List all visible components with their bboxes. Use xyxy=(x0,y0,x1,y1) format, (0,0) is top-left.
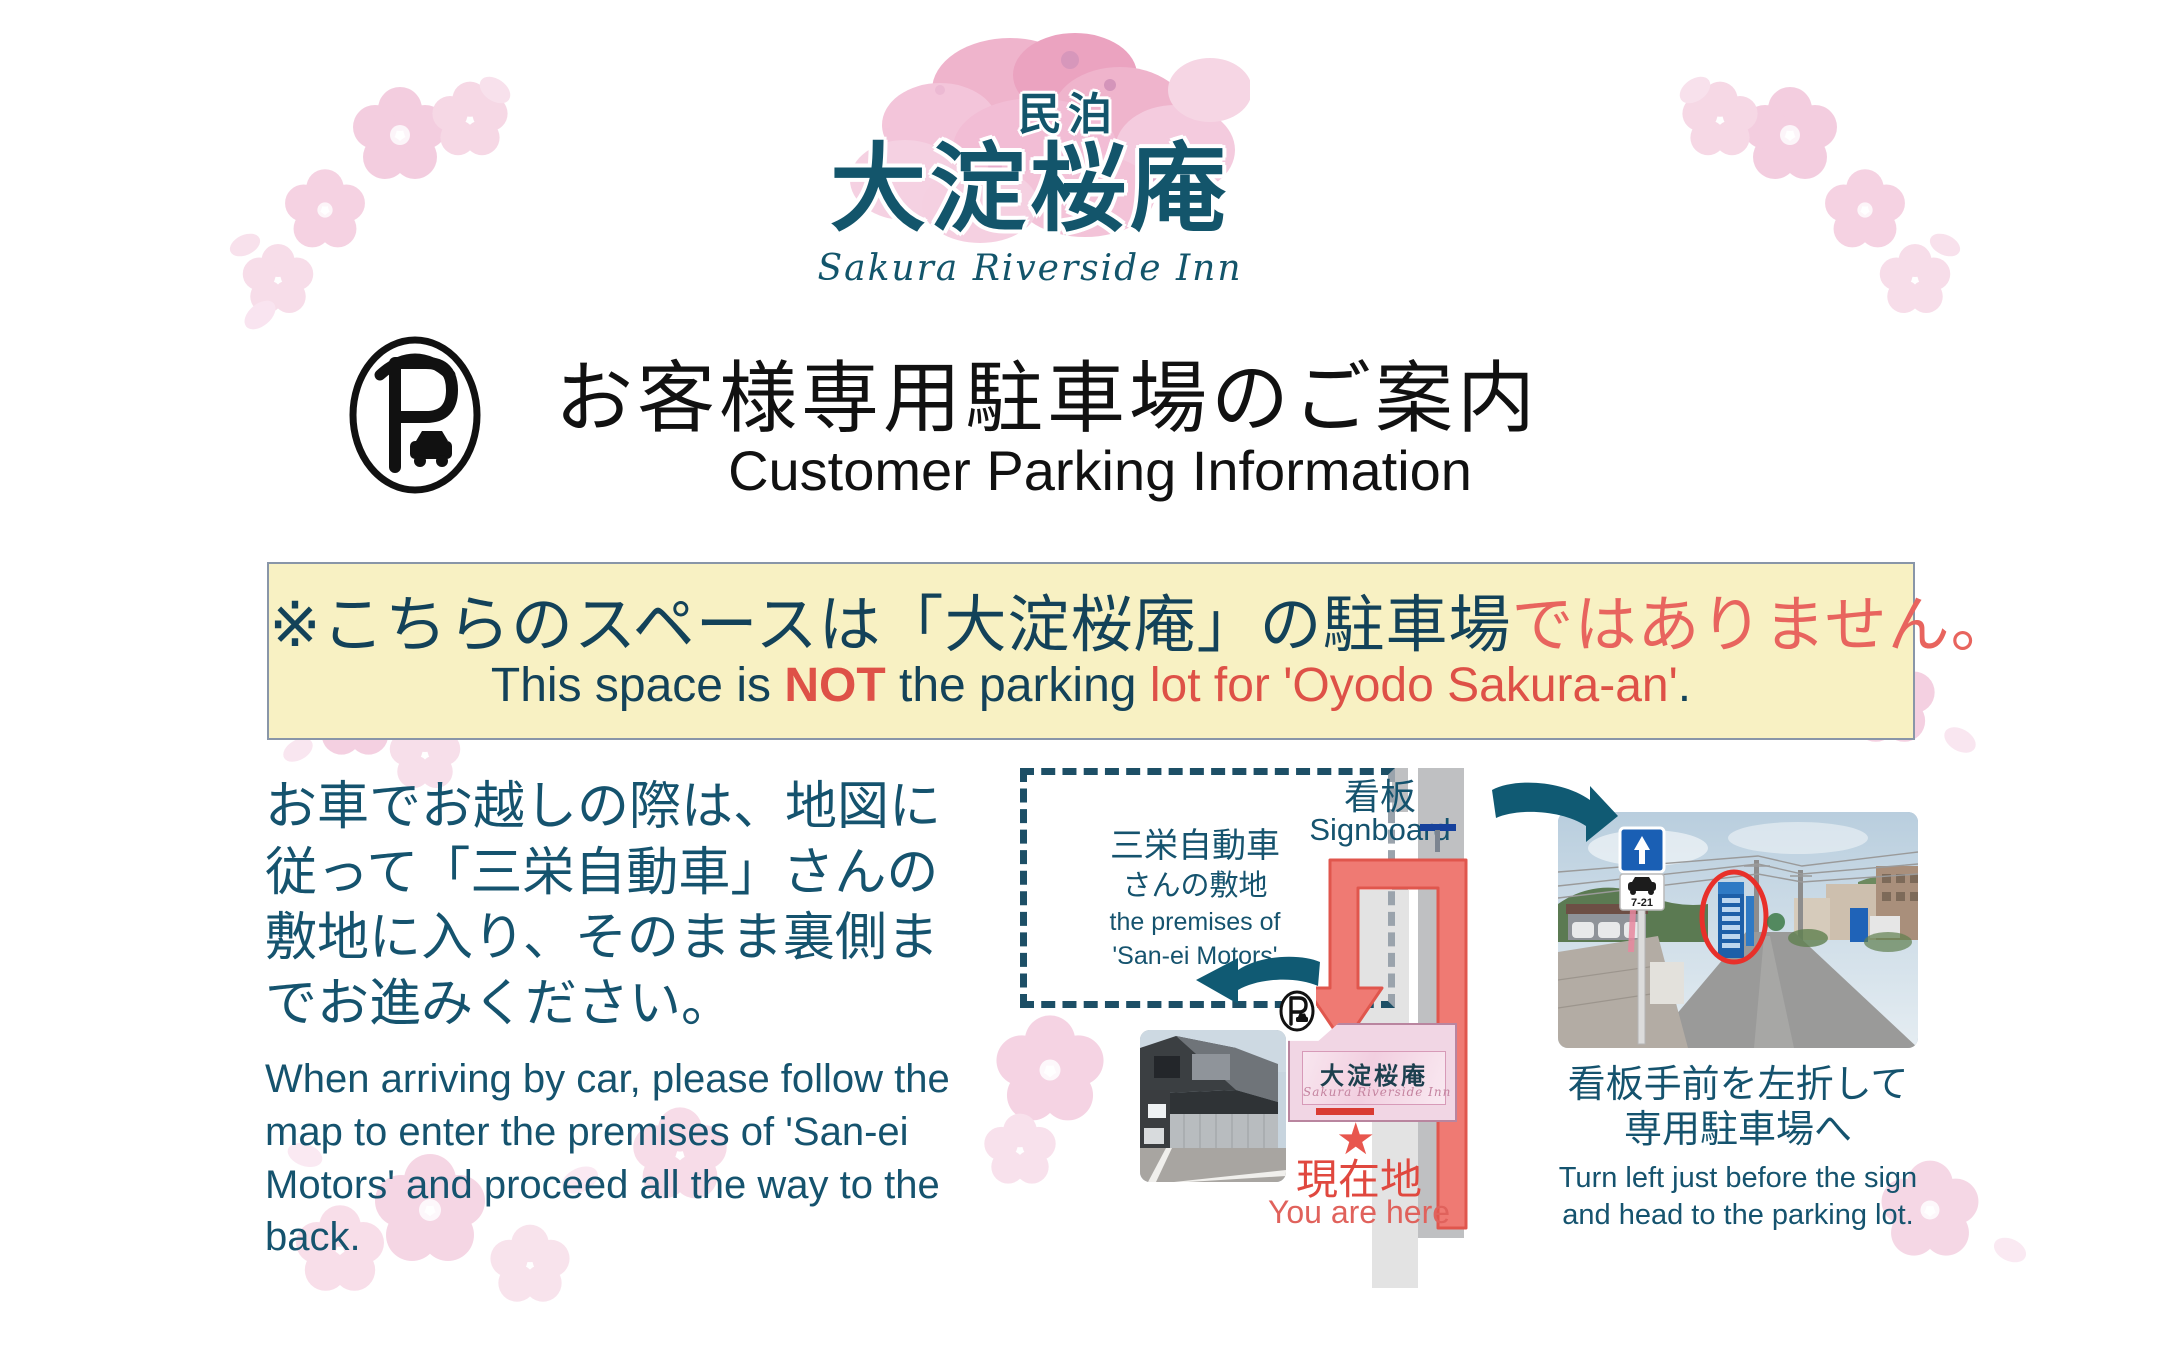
warning-en-not: NOT xyxy=(784,659,885,712)
sign-hours-text: 7-21 xyxy=(1631,897,1653,909)
map-parking-marker-icon xyxy=(1278,990,1316,1032)
caption-jp-line1: 看板手前を左折して xyxy=(1528,1062,1948,1107)
warning-en-part3-red: lot for 'Oyodo Sakura-an' xyxy=(1150,659,1678,712)
brand-logo: 民泊 大淀桜庵 Sakura Riverside Inn xyxy=(800,30,1260,295)
caption-jp-line2: 専用駐車場へ xyxy=(1528,1107,1948,1152)
premises-label-jp-line2: さんの敷地 xyxy=(1050,862,1340,904)
warning-en-period: . xyxy=(1678,659,1691,712)
page-title-en: Customer Parking Information xyxy=(555,438,1645,503)
logo-minpaku-label: 民泊 xyxy=(1018,78,1188,134)
sakura-decoration-top-left xyxy=(150,30,550,330)
warning-banner: ※こちらのスペースは「大淀桜庵」の駐車場ではありません。 This space … xyxy=(267,562,1915,740)
inn-plate-subtitle: Sakura Riverside Inn xyxy=(1303,1085,1445,1099)
warning-text-en: This space is NOT the parking lot for 'O… xyxy=(269,658,1913,713)
warning-en-part1: This space is xyxy=(491,659,784,712)
parking-p-car-icon xyxy=(340,335,490,495)
route-map-diagram: 三栄自動車 さんの敷地 the premises of 'San-ei Moto… xyxy=(1020,768,1480,1238)
instructions-block: お車でお越しの際は、地図に従って「三栄自動車」さんの敷地に入り、そのまま裏側まで… xyxy=(265,775,975,1264)
instructions-jp: お車でお越しの際は、地図に従って「三栄自動車」さんの敷地に入り、そのまま裏側まで… xyxy=(265,775,975,1037)
red-underline-bar xyxy=(1316,1108,1374,1115)
caption-en-line2: and head to the parking lot. xyxy=(1528,1197,1948,1235)
you-are-here-en: You are here xyxy=(1256,1194,1462,1231)
logo-inn-name: 大淀桜庵 xyxy=(800,135,1260,245)
page-title-jp: お客様専用駐車場のご案内 xyxy=(555,336,1645,448)
warning-text-jp: ※こちらのスペースは「大淀桜庵」の駐車場ではありません。 xyxy=(269,574,1913,664)
sakura-decoration-top-right xyxy=(1640,30,2040,330)
house-parking-photo xyxy=(1140,1030,1286,1182)
instructions-en: When arriving by car, please follow the … xyxy=(265,1053,975,1264)
premises-label-en-line1: the premises of xyxy=(1040,908,1350,937)
warning-jp-part1: ※こちらのスペースは「大淀桜庵」の駐車場 xyxy=(269,588,1512,661)
logo-subtitle: Sakura Riverside Inn xyxy=(800,248,1260,289)
photo-caption-block: 看板手前を左折して 専用駐車場へ Turn left just before t… xyxy=(1528,1062,1948,1235)
inn-signboard-plate: 大淀桜庵 Sakura Riverside Inn xyxy=(1302,1051,1446,1105)
parking-heading-block: お客様専用駐車場のご案内 Customer Parking Informatio… xyxy=(330,330,1650,520)
teal-arrow-into-photo xyxy=(1490,782,1620,852)
poster-canvas: 民泊 大淀桜庵 Sakura Riverside Inn お客様専用駐車場のご案… xyxy=(0,0,2184,1365)
warning-jp-part2-red: ではありません。 xyxy=(1512,588,2014,661)
warning-en-part2: the parking xyxy=(886,659,1150,712)
caption-en-line1: Turn left just before the sign xyxy=(1528,1160,1948,1198)
